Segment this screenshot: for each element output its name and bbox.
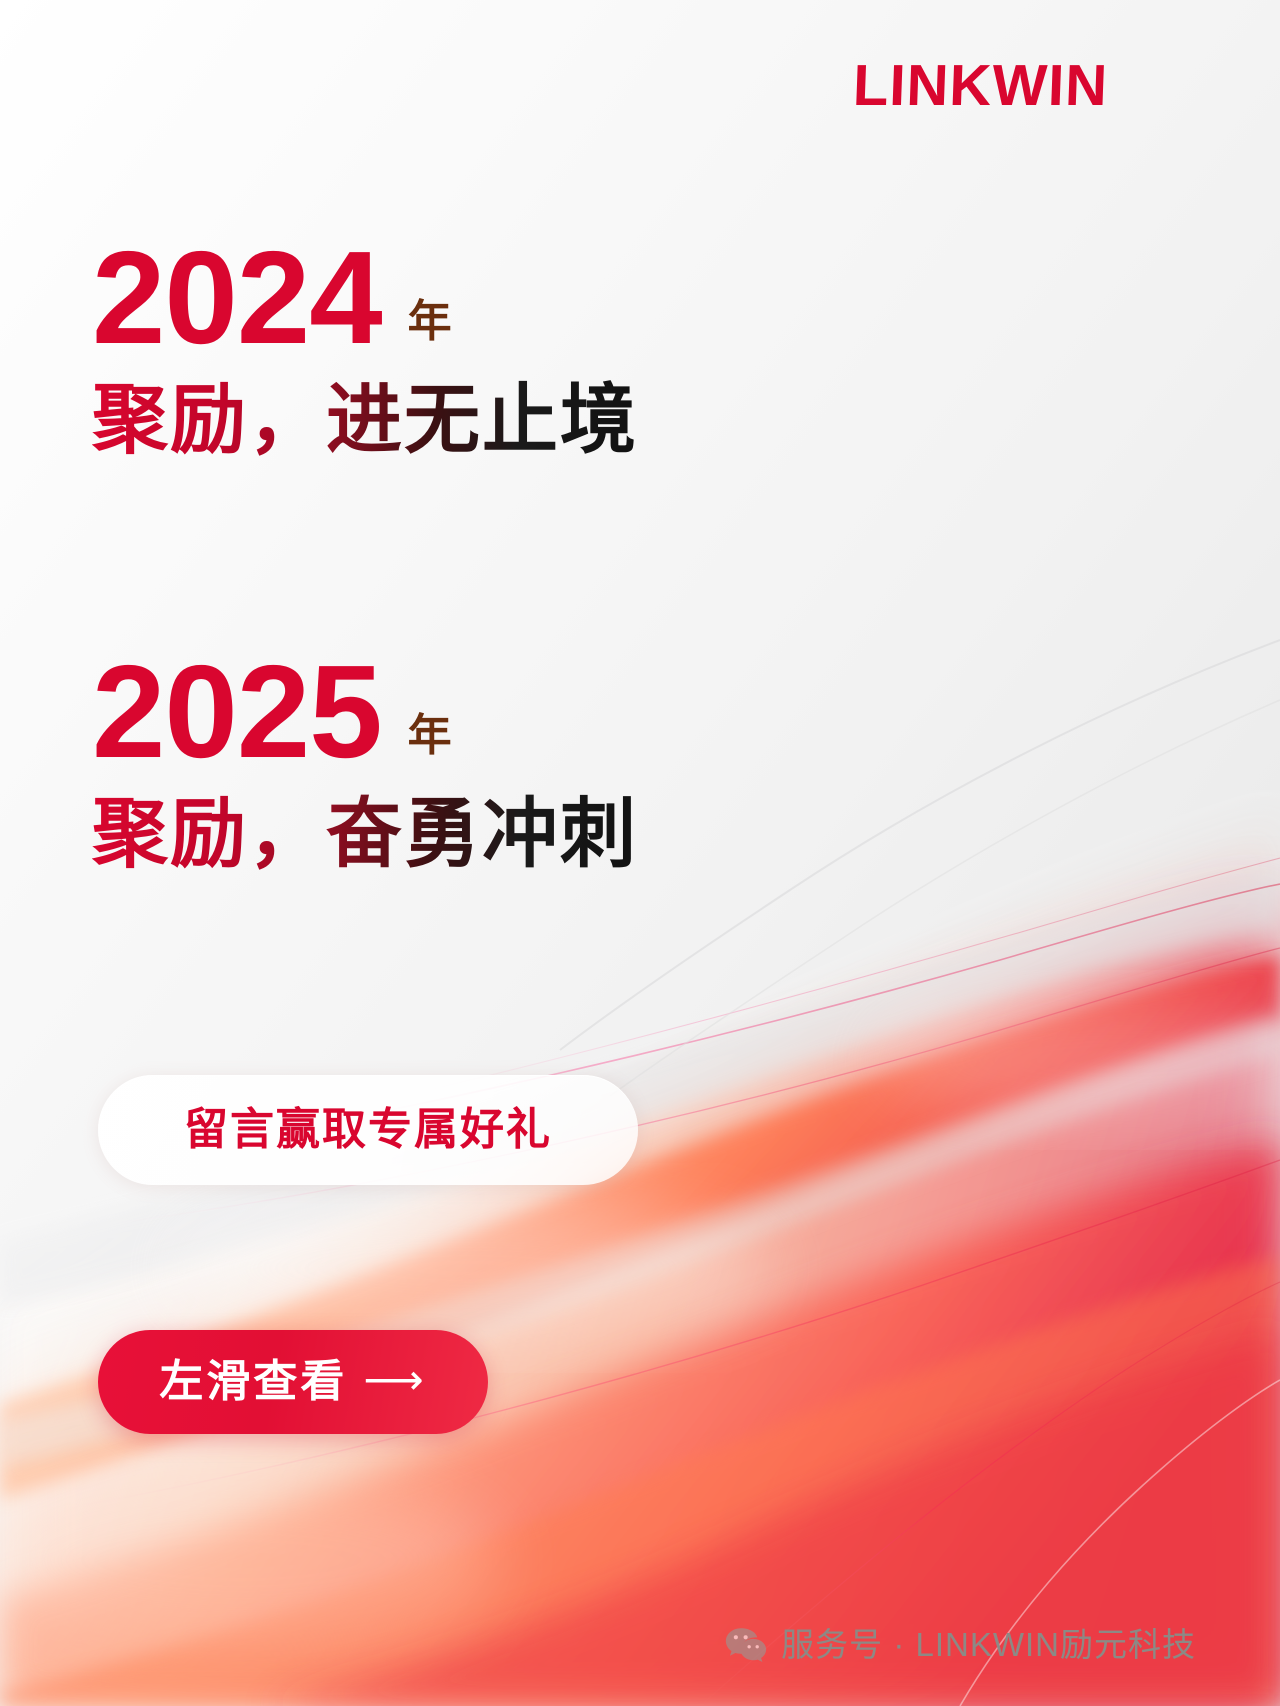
footer-account-text: 服务号 · LINKWIN励元科技 <box>781 1628 1196 1661</box>
linkwin-logo: LINKWIN <box>852 57 1109 115</box>
year-suffix-2024: 年 <box>408 300 452 344</box>
prize-pill[interactable]: 留言赢取专属好礼 <box>98 1075 638 1185</box>
slogan-2025: 聚励，奋勇冲刺 <box>92 792 638 877</box>
headline-block-2024: 2024 年 聚励，进无止境 <box>92 236 638 463</box>
swipe-button[interactable]: 左滑查看 ⟶ <box>98 1330 488 1434</box>
wave-pale-base <box>0 820 1280 1706</box>
logo-text: LINKWIN <box>852 57 1109 115</box>
prize-pill-label: 留言赢取专属好礼 <box>184 1108 552 1152</box>
swipe-button-text: 左滑查看 <box>159 1360 347 1404</box>
year-row-2024: 2024 年 <box>92 236 638 360</box>
wechat-icon <box>725 1626 767 1662</box>
wave-peach-body <box>0 900 1280 1706</box>
arrow-right-icon: ⟶ <box>363 1359 426 1401</box>
year-row-2025: 2025 年 <box>92 650 638 774</box>
grey-sweep-2 <box>610 700 1280 1096</box>
year-suffix-2025: 年 <box>408 714 452 758</box>
year-number-2025: 2025 <box>92 650 382 774</box>
year-number-2024: 2024 <box>92 236 382 360</box>
grey-sweep-1 <box>560 640 1280 1050</box>
slogan-2024: 聚励，进无止境 <box>92 378 638 463</box>
footer-account: 服务号 · LINKWIN励元科技 <box>725 1626 1196 1662</box>
highlight-left <box>170 1198 770 1338</box>
poster-canvas: LINKWIN 2024 年 聚励，进无止境 2025 年 聚励，奋勇冲刺 留言… <box>0 0 1280 1706</box>
headline-block-2025: 2025 年 聚励，奋勇冲刺 <box>92 650 638 877</box>
highlight-bottom-left <box>0 1470 500 1650</box>
swipe-button-label: 左滑查看 ⟶ <box>159 1360 426 1404</box>
highlight-right <box>870 1000 1280 1120</box>
